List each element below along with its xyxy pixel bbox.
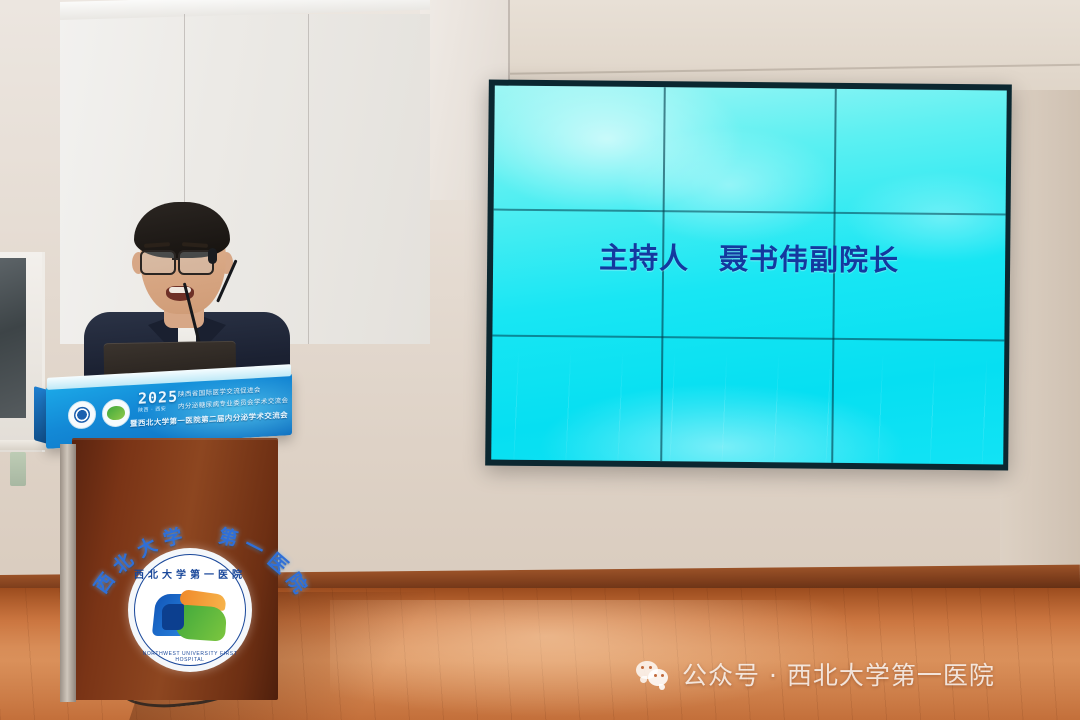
podium-arch-char: 一	[240, 530, 269, 563]
slide-title-text: 主持人 聂书伟副院长	[493, 234, 1005, 281]
wechat-dot	[641, 666, 644, 669]
podium-arch-char	[191, 520, 210, 547]
emblem-artwork	[154, 584, 226, 640]
emblem-english-text: NORTHWEST UNIVERSITY FIRST HOSPITAL	[128, 651, 252, 663]
photo-scene: 主持人 聂书伟副院长 2025 陕西 · 西安 陕西省国际医学交流	[0, 0, 1080, 720]
podium-metal-leg	[60, 444, 76, 702]
panel-seam-horizontal	[492, 334, 1004, 341]
podium-arch-char: 医	[262, 546, 294, 579]
emblem-blue-inner-shape	[162, 604, 184, 630]
podium-arch-char: 第	[216, 521, 241, 552]
screen-light-streaks	[491, 350, 1004, 465]
hospital-emblem: 西北大学第一医院 NORTHWEST UNIVERSITY FIRST HOSP…	[128, 548, 252, 672]
podium-body: 西北大学 第一医院 西北大学第一医院 NORTHWEST UNIVERSITY …	[72, 438, 278, 700]
watermark-text: 公众号 · 西北大学第一医院	[682, 656, 995, 692]
wechat-dot	[649, 666, 652, 669]
wechat-bubble-small	[648, 669, 668, 686]
video-wall: 主持人 聂书伟副院长	[485, 79, 1012, 470]
banner-year-sub: 陕西 · 西安	[138, 405, 166, 414]
glasses-bridge	[172, 258, 180, 260]
window-glass	[0, 258, 26, 418]
microphone-icon	[208, 248, 217, 264]
wechat-dot	[661, 674, 664, 677]
committee-logo-icon	[102, 398, 130, 428]
video-wall-screen: 主持人 聂书伟副院长	[491, 86, 1007, 465]
association-logo-icon	[68, 400, 96, 430]
wechat-watermark: 公众号 · 西北大学第一医院	[636, 656, 995, 692]
wall-panel-seam	[308, 14, 309, 344]
window-sill-object	[10, 452, 26, 486]
podium-arch-char: 西	[87, 567, 120, 598]
glasses-icon	[140, 250, 176, 275]
right-wall-strip	[1000, 90, 1080, 610]
podium: 2025 陕西 · 西安 陕西省国际医学交流促进会 内分泌糖尿病专业委员会学术交…	[46, 380, 296, 720]
wechat-dot	[654, 674, 657, 677]
wechat-icon	[636, 661, 670, 687]
emblem-chinese-text: 西北大学第一医院	[128, 566, 252, 581]
panel-seam-horizontal	[494, 209, 1006, 216]
